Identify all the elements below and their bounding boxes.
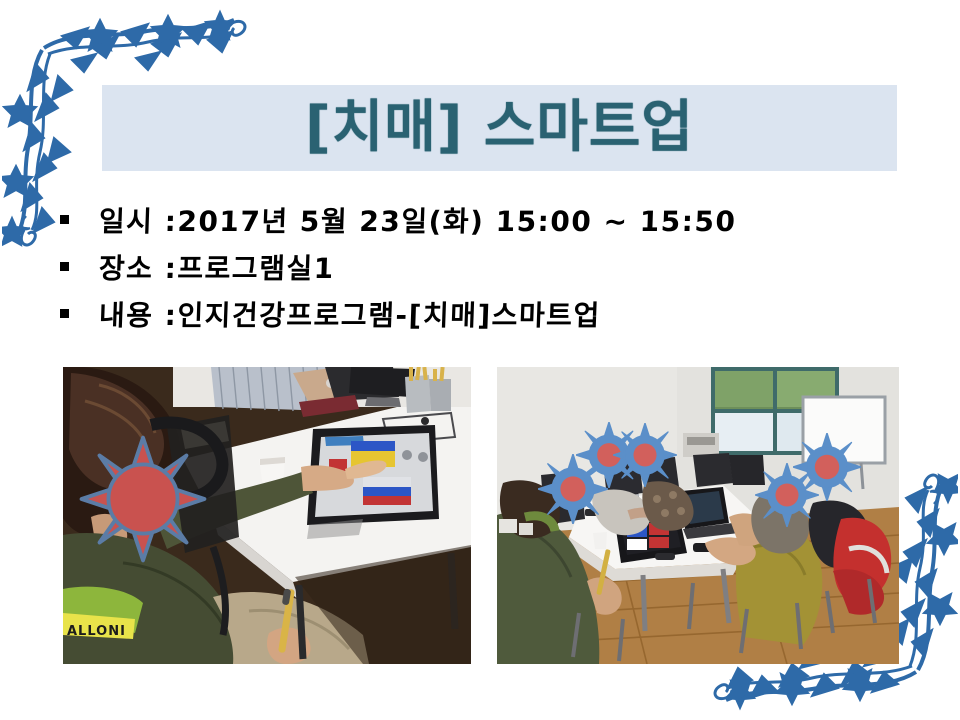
list-item-label: 장소 :프로그램실1 (98, 247, 335, 287)
bullet-list: 일시 :2017년 5월 23일(화) 15:00 ~ 15:50 장소 :프로… (60, 196, 900, 337)
title-banner: [치매] 스마트업 (102, 85, 897, 171)
square-bullet-icon (60, 262, 69, 271)
photo-left: ALLONI (63, 367, 471, 664)
svg-text:ALLONI: ALLONI (67, 624, 126, 639)
slide-canvas: [치매] 스마트업 일시 :2017년 5월 23일(화) 15:00 ~ 15… (0, 0, 960, 720)
list-item: 장소 :프로그램실1 (60, 243, 900, 290)
square-bullet-icon (60, 215, 69, 224)
list-item: 일시 :2017년 5월 23일(화) 15:00 ~ 15:50 (60, 196, 900, 243)
square-bullet-icon (60, 309, 69, 318)
face-sticker-starburst (793, 433, 861, 501)
face-sticker-starburst (613, 423, 677, 487)
list-item-label: 일시 :2017년 5월 23일(화) 15:00 ~ 15:50 (98, 200, 737, 240)
list-item: 내용 :인지건강프로그램-[치매]스마트업 (60, 290, 900, 337)
page-title: [치매] 스마트업 (305, 100, 694, 156)
photo-right (497, 367, 899, 664)
list-item-label: 내용 :인지건강프로그램-[치매]스마트업 (98, 294, 601, 334)
face-sticker-starburst (79, 435, 207, 563)
